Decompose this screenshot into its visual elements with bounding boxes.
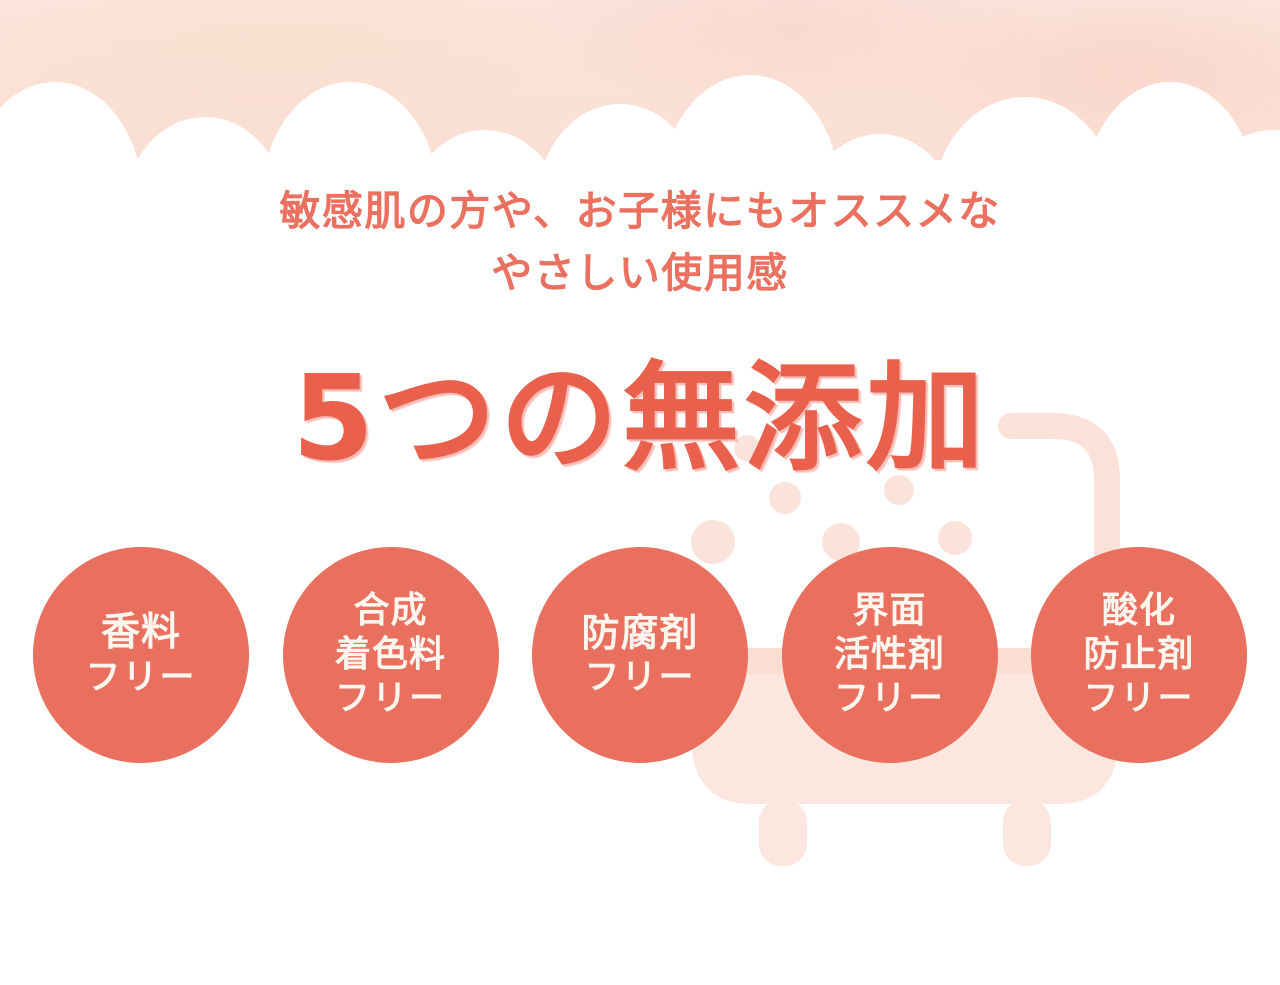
badge-line: 酸化 bbox=[1102, 589, 1176, 634]
badge-line: 香料 bbox=[101, 609, 181, 657]
free-from-badge-row: 香料 フリー 合成 着色料 フリー 防腐剤 フリー 界面 活性剤 フリー 酸化 … bbox=[33, 547, 1247, 763]
badge-line: 防止剤 bbox=[1083, 633, 1194, 678]
badge-line: 活性剤 bbox=[834, 633, 945, 678]
badge-fragrance-free[interactable]: 香料 フリー bbox=[33, 547, 249, 763]
lead-copy: 敏感肌の方や、お子様にもオススメなやさしい使用感 bbox=[0, 180, 1280, 305]
badge-free-label: フリー bbox=[834, 678, 945, 721]
badge-free-label: フリー bbox=[584, 657, 695, 700]
badge-line: 合成 bbox=[353, 589, 427, 634]
badge-antioxidant-free[interactable]: 酸化 防止剤 フリー bbox=[1031, 547, 1247, 763]
badge-line: 防腐剤 bbox=[581, 610, 698, 657]
promo-graphic: 敏感肌の方や、お子様にもオススメなやさしい使用感 5つの無添加 香料 フリー 合… bbox=[0, 0, 1280, 985]
lead-line-2: やさしい使用感 bbox=[491, 249, 789, 297]
badge-preservative-free[interactable]: 防腐剤 フリー bbox=[532, 547, 748, 763]
page-title: 5つの無添加 bbox=[0, 352, 1280, 484]
badge-line: 着色料 bbox=[335, 633, 446, 678]
cloud-band-decoration bbox=[0, 0, 1280, 200]
badge-free-label: フリー bbox=[1083, 678, 1194, 721]
badge-free-label: フリー bbox=[335, 678, 446, 721]
badge-synthetic-color-free[interactable]: 合成 着色料 フリー bbox=[283, 547, 499, 763]
badge-line: 界面 bbox=[852, 589, 926, 634]
lead-line-1: 敏感肌の方や、お子様にもオススメな bbox=[279, 187, 1000, 235]
badge-free-label: フリー bbox=[85, 657, 196, 700]
badge-surfactant-free[interactable]: 界面 活性剤 フリー bbox=[782, 547, 998, 763]
